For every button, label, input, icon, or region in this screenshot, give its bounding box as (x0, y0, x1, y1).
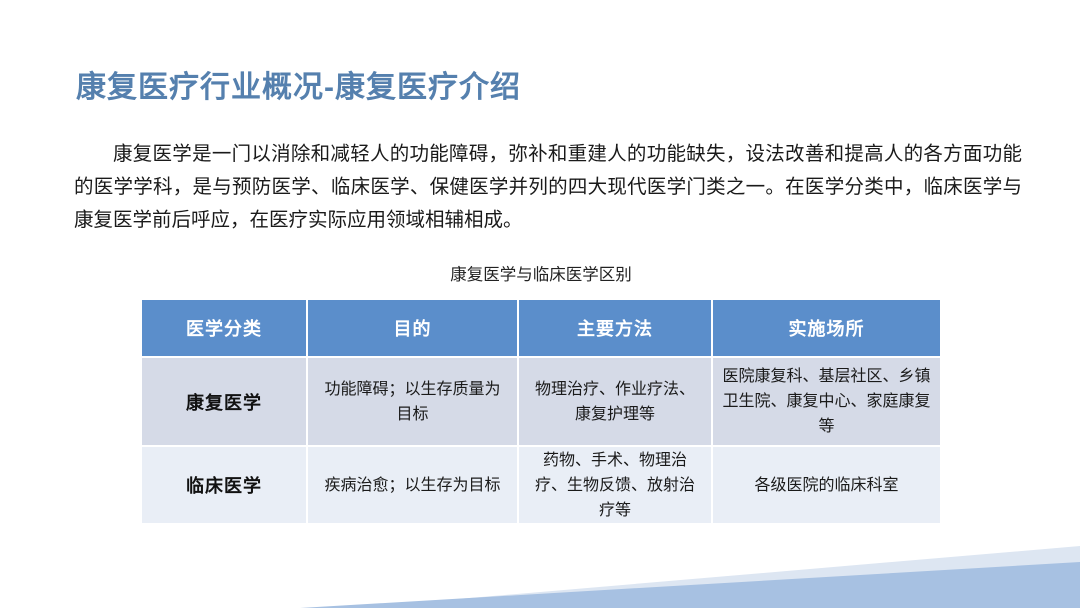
column-header-venue: 实施场所 (713, 300, 940, 358)
page-title: 康复医疗行业概况-康复医疗介绍 (76, 62, 521, 106)
column-header-purpose: 目的 (308, 300, 519, 358)
cell-category-rehab: 康复医学 (142, 358, 308, 447)
cell-methods-clinical: 药物、手术、物理治疗、生物反馈、放射治疗等 (519, 447, 713, 523)
table-row: 临床医学 疾病治愈；以生存为目标 药物、手术、物理治疗、生物反馈、放射治疗等 各… (142, 447, 940, 523)
bottom-decoration (0, 518, 1080, 608)
table-header-row: 医学分类 目的 主要方法 实施场所 (142, 300, 940, 358)
column-header-category: 医学分类 (142, 300, 308, 358)
column-header-methods: 主要方法 (519, 300, 713, 358)
cell-methods-rehab: 物理治疗、作业疗法、康复护理等 (519, 358, 713, 447)
cell-venue-clinical: 各级医院的临床科室 (713, 447, 940, 523)
table-row: 康复医学 功能障碍；以生存质量为目标 物理治疗、作业疗法、康复护理等 医院康复科… (142, 358, 940, 447)
decoration-band-front (300, 562, 1080, 608)
presentation-slide: 康复医疗行业概况-康复医疗介绍 康复医学是一门以消除和减轻人的功能障碍，弥补和重… (0, 0, 1080, 608)
cell-purpose-clinical: 疾病治愈；以生存为目标 (308, 447, 519, 523)
body-paragraph: 康复医学是一门以消除和减轻人的功能障碍，弥补和重建人的功能缺失，设法改善和提高人… (74, 138, 1022, 237)
comparison-table: 医学分类 目的 主要方法 实施场所 康复医学 功能障碍；以生存质量为目标 物理治… (142, 300, 940, 523)
cell-venue-rehab: 医院康复科、基层社区、乡镇卫生院、康复中心、家庭康复等 (713, 358, 940, 447)
decoration-band-back (352, 546, 1080, 608)
cell-category-clinical: 临床医学 (142, 447, 308, 523)
cell-purpose-rehab: 功能障碍；以生存质量为目标 (308, 358, 519, 447)
table-caption: 康复医学与临床医学区别 (142, 261, 940, 285)
decoration-bands-icon (0, 518, 1080, 608)
